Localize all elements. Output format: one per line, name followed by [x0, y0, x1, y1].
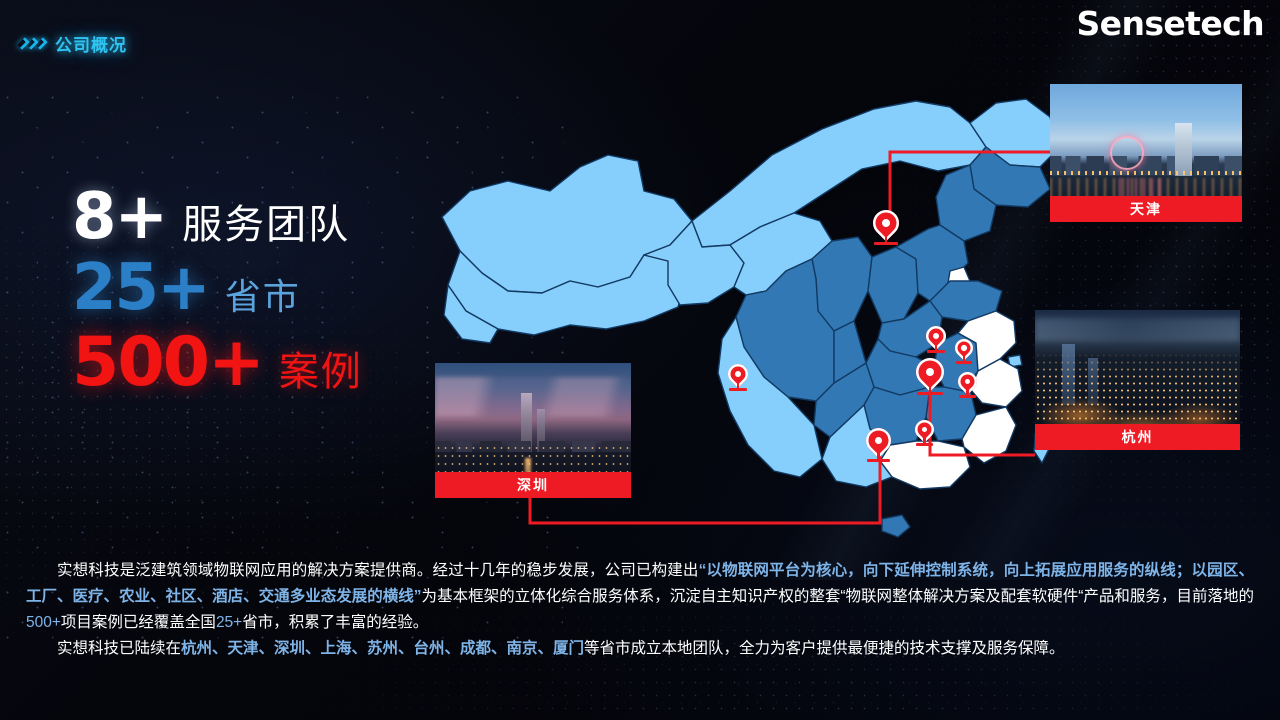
- stats-block: 8+ 服务团队 25+ 省市 500+ 案例: [72, 185, 363, 403]
- pin-suzhou[interactable]: [926, 326, 946, 346]
- pin-base: [956, 361, 973, 364]
- p1-part-c: 项目案例已经覆盖全国: [61, 614, 216, 631]
- pin-xiamen[interactable]: [915, 420, 934, 439]
- p2-city-list: 杭州、天津、深圳、上海、苏州、台州、成都、南京、厦门: [181, 640, 584, 657]
- pin-hangzhou[interactable]: [916, 358, 944, 386]
- card-shenzhen[interactable]: 深圳: [435, 363, 631, 498]
- card-label-hangzhou: 杭州: [1035, 424, 1240, 450]
- photo-lights: [1050, 171, 1242, 175]
- pin-base: [874, 242, 898, 245]
- pin-base: [729, 388, 747, 391]
- stat-number-cases: 500+: [72, 328, 263, 397]
- photo-ferris-wheel: [1110, 136, 1144, 170]
- paragraph-2: 实想科技已陆续在杭州、天津、深圳、上海、苏州、台州、成都、南京、厦门等省市成立本…: [26, 636, 1254, 662]
- p1-part-a: 实想科技是泛建筑领域物联网应用的解决方案提供商。经过十几年的稳步发展，公司已构建…: [57, 562, 699, 579]
- paragraph-1: 实想科技是泛建筑领域物联网应用的解决方案提供商。经过十几年的稳步发展，公司已构建…: [26, 558, 1254, 636]
- pin-shanghai[interactable]: [955, 339, 973, 357]
- card-hangzhou[interactable]: 杭州: [1035, 310, 1240, 450]
- stat-label-provinces: 省市: [225, 268, 301, 320]
- photo-clouds: [435, 377, 631, 418]
- region-shanxi: [868, 247, 918, 323]
- stat-row-cases: 500+ 案例: [72, 328, 363, 397]
- shenzhen-dusk-skyline-photo: 深圳: [435, 363, 631, 498]
- stat-label-teams: 服务团队: [182, 192, 350, 250]
- body-copy: 实想科技是泛建筑领域物联网应用的解决方案提供商。经过十几年的稳步发展，公司已构建…: [0, 558, 1280, 662]
- photo-clouds: [1035, 318, 1240, 340]
- hangzhou-night-aerial-photo: 杭州: [1035, 310, 1240, 450]
- photo-tower: [1175, 123, 1192, 185]
- pin-chengdu[interactable]: [728, 364, 748, 384]
- pin-tianjin[interactable]: [873, 210, 899, 236]
- pin-base: [927, 350, 945, 353]
- chevrons-right-icon: [20, 38, 45, 49]
- region-guangdong: [880, 441, 970, 489]
- p2-part-a: 实想科技已陆续在: [57, 640, 181, 657]
- pin-taizhou[interactable]: [958, 372, 977, 391]
- header-bar: 公司概况 Sensetech: [0, 0, 1280, 62]
- pin-base: [867, 459, 890, 462]
- stat-row-teams: 8+ 服务团队: [72, 185, 363, 250]
- card-label-tianjin: 天津: [1050, 196, 1242, 222]
- stat-number-teams: 8+: [72, 185, 166, 250]
- stat-row-provinces: 25+ 省市: [72, 256, 363, 321]
- pin-base: [959, 395, 976, 398]
- stat-label-cases: 案例: [279, 339, 363, 397]
- pin-shenzhen[interactable]: [866, 428, 891, 453]
- p1-number-cases: 500+: [26, 614, 61, 631]
- breadcrumb: 公司概况: [20, 31, 127, 56]
- brand-logo: Sensetech: [1077, 4, 1264, 43]
- card-tianjin[interactable]: 天津: [1050, 84, 1242, 222]
- p2-part-b: 等省市成立本地团队，全力为客户提供最便捷的技术支撑及服务保障。: [584, 640, 1065, 657]
- page-title: 公司概况: [55, 31, 127, 56]
- p1-part-d: 省市，积累了丰富的经验。: [242, 614, 428, 631]
- card-label-shenzhen: 深圳: [435, 472, 631, 498]
- stat-number-provinces: 25+: [72, 256, 209, 321]
- p1-number-provinces: 25+: [216, 614, 242, 631]
- pin-base: [916, 443, 933, 446]
- pin-base: [917, 392, 943, 395]
- tianjin-night-skyline-photo: 天津: [1050, 84, 1242, 222]
- p1-part-b: 为基本框架的立体化综合服务体系，沉淀自主知识产权的整套“物联网整体解决方案及配套…: [422, 588, 1254, 605]
- region-hainan: [882, 515, 910, 537]
